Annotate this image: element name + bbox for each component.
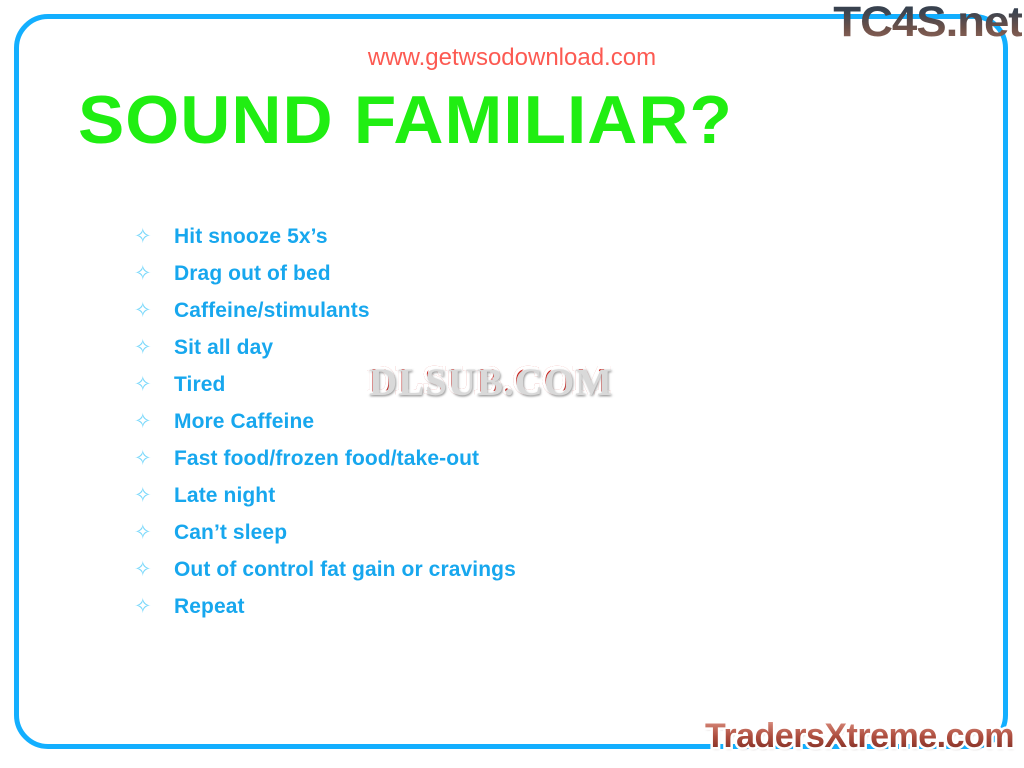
four-point-star-icon: ✧	[134, 596, 174, 617]
slide-canvas: www.getwsodownload.com SOUND FAMILIAR? ✧…	[0, 0, 1024, 768]
four-point-star-icon: ✧	[134, 485, 174, 506]
list-item: ✧ Out of control fat gain or cravings	[134, 551, 854, 588]
list-item-label: Hit snooze 5x’s	[174, 225, 854, 249]
list-item: ✧ More Caffeine	[134, 403, 854, 440]
four-point-star-icon: ✧	[134, 374, 174, 395]
dlsub-watermark-layers: DLSUB.COM DLSUB.COM	[367, 358, 611, 403]
four-point-star-icon: ✧	[134, 559, 174, 580]
four-point-star-icon: ✧	[134, 263, 174, 284]
tc4s-logo: TC4S.net	[833, 0, 1022, 47]
list-item-label: Out of control fat gain or cravings	[174, 558, 854, 582]
list-item: ✧ Drag out of bed	[134, 255, 854, 292]
list-item-label: Sit all day	[174, 336, 854, 360]
list-item: ✧ Late night	[134, 477, 854, 514]
list-item-label: Can’t sleep	[174, 521, 854, 545]
four-point-star-icon: ✧	[134, 226, 174, 247]
page-title: SOUND FAMILIAR?	[78, 86, 733, 154]
list-item-label: Caffeine/stimulants	[174, 299, 854, 323]
tradersxtreme-logo-layers: TradersXtreme.com TradersXtreme.com	[705, 717, 1014, 756]
dlsub-watermark: DLSUB.COM DLSUB.COM	[367, 358, 611, 403]
tradersxtreme-logo: TradersXtreme.com TradersXtreme.com	[705, 717, 1014, 756]
list-item: ✧ Caffeine/stimulants	[134, 292, 854, 329]
list-item: ✧ Hit snooze 5x’s	[134, 218, 854, 255]
list-item-label: More Caffeine	[174, 410, 854, 434]
four-point-star-icon: ✧	[134, 300, 174, 321]
list-item: ✧ Repeat	[134, 588, 854, 625]
dlsub-watermark-fill: DLSUB.COM	[367, 358, 611, 403]
list-item: ✧ Can’t sleep	[134, 514, 854, 551]
tradersxtreme-logo-fill: TradersXtreme.com	[705, 717, 1014, 756]
list-item-label: Drag out of bed	[174, 262, 854, 286]
four-point-star-icon: ✧	[134, 411, 174, 432]
four-point-star-icon: ✧	[134, 337, 174, 358]
site-url-watermark: www.getwsodownload.com	[0, 44, 1024, 72]
four-point-star-icon: ✧	[134, 448, 174, 469]
list-item-label: Repeat	[174, 595, 854, 619]
list-item-label: Late night	[174, 484, 854, 508]
list-item-label: Fast food/frozen food/take-out	[174, 447, 854, 471]
bullet-list: ✧ Hit snooze 5x’s ✧ Drag out of bed ✧ Ca…	[134, 218, 854, 625]
list-item: ✧ Fast food/frozen food/take-out	[134, 440, 854, 477]
four-point-star-icon: ✧	[134, 522, 174, 543]
